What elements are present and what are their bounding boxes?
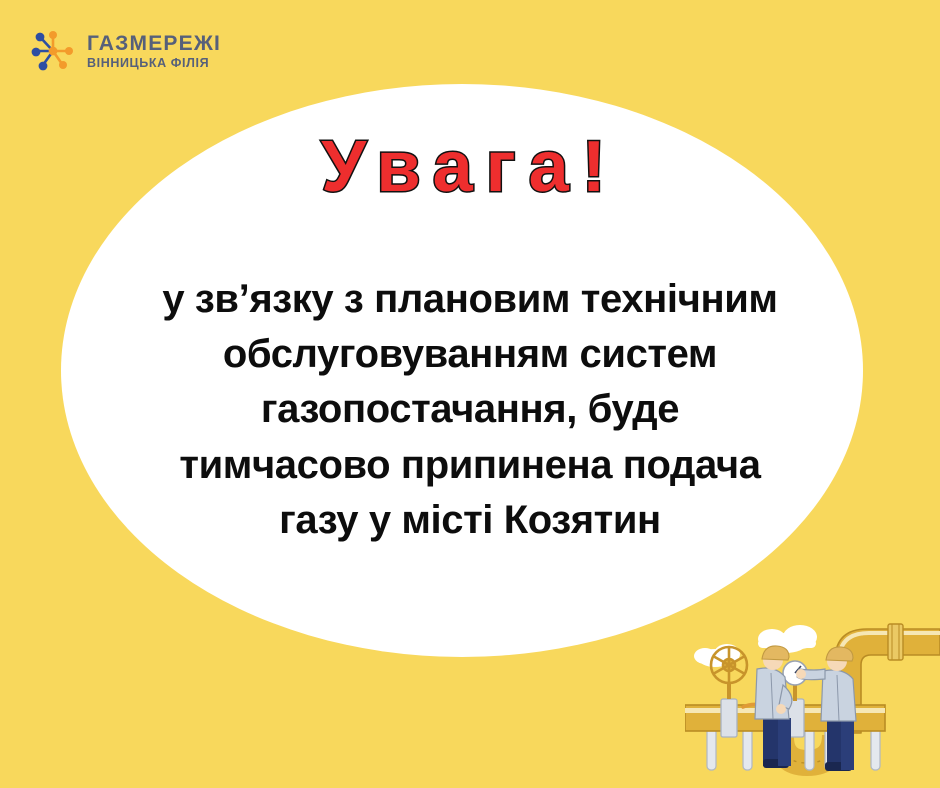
brand-branch: ВІННИЦЬКА ФІЛІЯ [87,57,221,70]
notice-line: тимчасово припинена подача [85,438,855,493]
brand-logo: ГАЗМЕРЕЖІ ВІННИЦЬКА ФІЛІЯ [28,26,221,76]
notice-line: газу у місті Козятин [85,493,855,548]
notice-line: обслуговуванням систем [85,327,855,382]
notice-line: газопостачання, буде [85,382,855,437]
gas-pipeline-workers-illustration [685,603,940,788]
page-title: Увага! [0,131,940,203]
pipe-flange [888,624,903,660]
brand-logo-text: ГАЗМЕРЕЖІ ВІННИЦЬКА ФІЛІЯ [87,33,221,70]
poster-canvas: ГАЗМЕРЕЖІ ВІННИЦЬКА ФІЛІЯ Увага! у зв’яз… [0,0,940,788]
notice-message: у зв’язку з плановим технічним обслугову… [85,272,855,548]
gas-network-node-logo-icon [28,26,78,76]
notice-line: у зв’язку з плановим технічним [85,272,855,327]
brand-name: ГАЗМЕРЕЖІ [87,33,221,54]
